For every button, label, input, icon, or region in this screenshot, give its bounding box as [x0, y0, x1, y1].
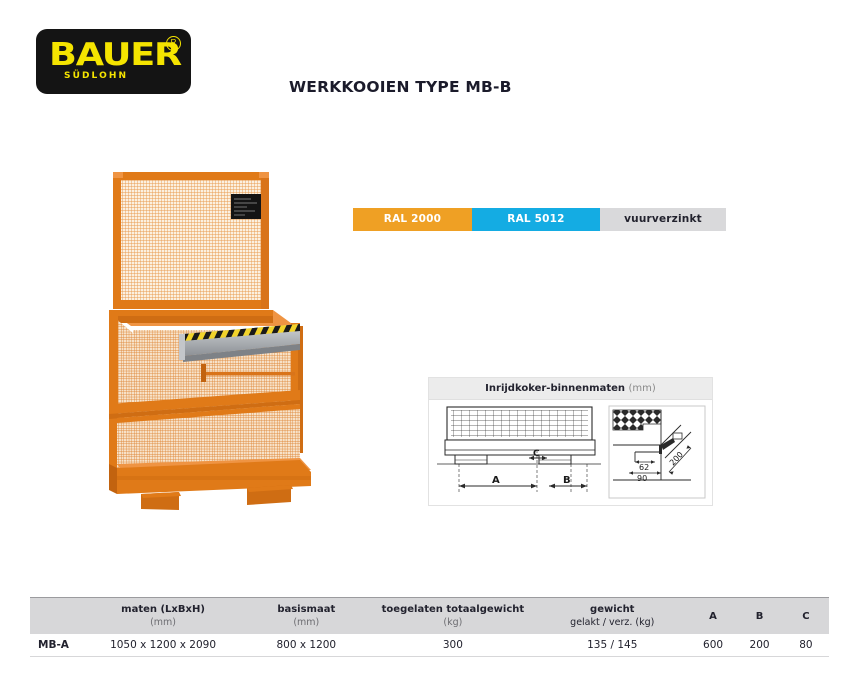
cage-left-post — [109, 316, 118, 471]
page-title: WERKKOOIEN TYPE MB-B — [289, 78, 512, 96]
drawing-elevation-view: C A B — [437, 407, 601, 492]
dimension-label-90: 90 — [637, 474, 647, 483]
col-weight-label: gewicht — [590, 604, 634, 615]
cell-a: 600 — [690, 634, 737, 657]
drawing-detail-view: 62 90 200 — [609, 406, 705, 498]
col-base-label: basismaat — [277, 604, 335, 615]
finish-swatch-group: RAL 2000 RAL 5012 vuurverzinkt — [353, 208, 726, 231]
product-image — [95, 168, 340, 513]
col-b: B — [736, 598, 783, 635]
col-load-label: toegelaten totaalgewicht — [382, 604, 525, 615]
col-load-unit: (kg) — [373, 616, 533, 629]
drawing-unit: (mm) — [629, 383, 656, 394]
table-row: MB-A 1050 x 1200 x 2090 800 x 1200 300 1… — [30, 634, 829, 657]
dimension-label-b: B — [563, 475, 571, 486]
col-weight: gewicht gelakt / verz. (kg) — [535, 598, 690, 635]
col-base: basismaat (mm) — [242, 598, 372, 635]
cell-load: 300 — [371, 634, 535, 657]
cell-b: 200 — [736, 634, 783, 657]
cell-weight: 135 / 145 — [535, 634, 690, 657]
cage-back-panel — [113, 172, 269, 309]
col-dimensions-unit: (mm) — [87, 616, 240, 629]
finish-swatch-vuurverzinkt[interactable]: vuurverzinkt — [600, 208, 726, 231]
dimension-label-c: C — [533, 449, 540, 459]
finish-swatch-ral-2000[interactable]: RAL 2000 — [353, 208, 472, 231]
drawing-body: C A B — [429, 400, 712, 505]
table-header-row: maten (LxBxH) (mm) basismaat (mm) toegel… — [30, 598, 829, 635]
col-a: A — [690, 598, 737, 635]
brand-logo: BAUER SÜDLOHN R — [36, 29, 191, 94]
col-dimensions: maten (LxBxH) (mm) — [85, 598, 242, 635]
col-weight-sub: gelakt / verz. (kg) — [537, 616, 688, 629]
col-dimensions-label: maten (LxBxH) — [121, 604, 205, 615]
col-model — [30, 598, 85, 635]
col-c: C — [783, 598, 829, 635]
col-load: toegelaten totaalgewicht (kg) — [371, 598, 535, 635]
cell-c: 80 — [783, 634, 829, 657]
drawing-title: Inrijdkoker-binnenmaten — [485, 383, 625, 394]
cage-top-rail — [109, 310, 295, 326]
finish-swatch-ral-5012[interactable]: RAL 5012 — [472, 208, 600, 231]
registered-trademark-icon: R — [166, 36, 181, 51]
drawing-title-bar: Inrijdkoker-binnenmaten (mm) — [429, 378, 712, 400]
brand-subtitle: SÜDLOHN — [64, 72, 128, 81]
dimension-label-a: A — [492, 475, 500, 486]
specification-table: maten (LxBxH) (mm) basismaat (mm) toegel… — [30, 597, 829, 657]
cell-model: MB-A — [30, 634, 85, 657]
dimension-label-62: 62 — [639, 463, 649, 472]
cell-base: 800 x 1200 — [242, 634, 372, 657]
product-data-plate — [231, 194, 261, 219]
col-base-unit: (mm) — [244, 616, 370, 629]
technical-drawing-panel: Inrijdkoker-binnenmaten (mm) — [428, 377, 713, 506]
brand-name: BAUER — [49, 40, 181, 71]
cell-dimensions: 1050 x 1200 x 2090 — [85, 634, 242, 657]
